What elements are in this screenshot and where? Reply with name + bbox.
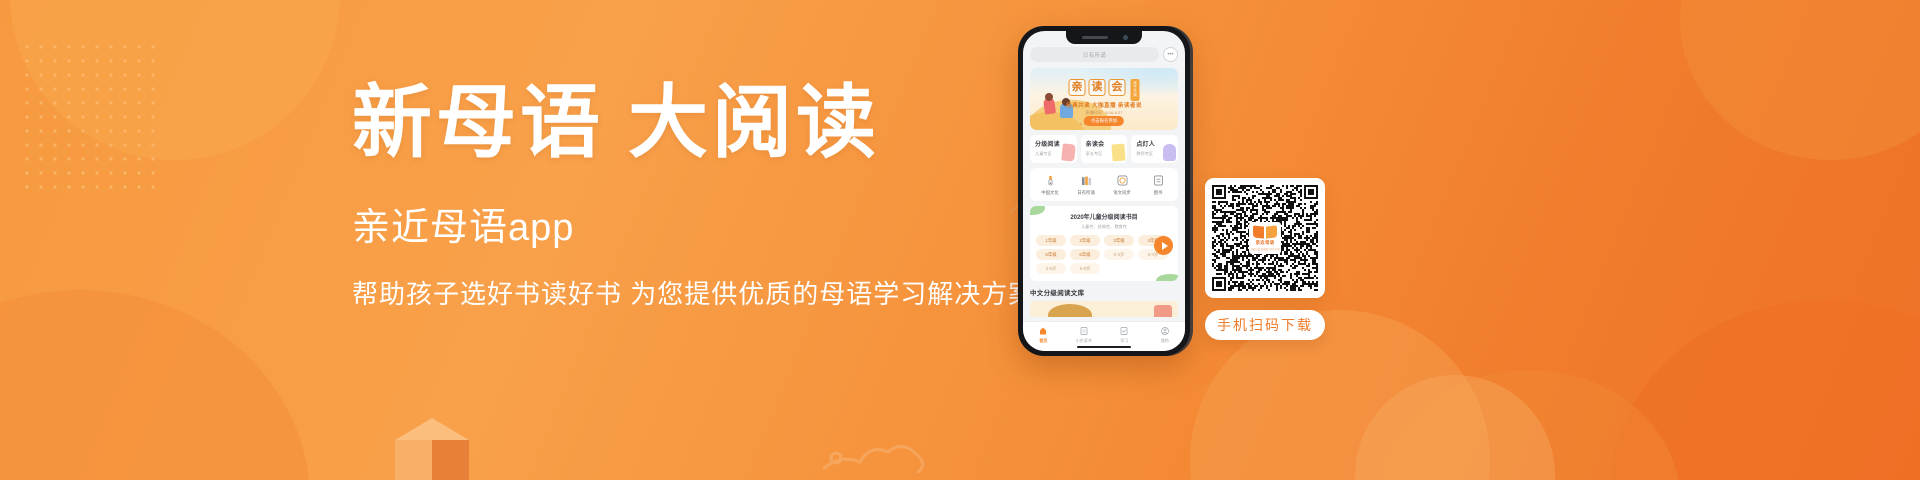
quick-link-label: 日有所诵 — [1077, 190, 1095, 196]
qr-code: 亲近母语 中国儿童 阅读推广的先行者 — [1212, 185, 1318, 291]
people-icon — [1163, 144, 1176, 161]
profile-icon — [1160, 326, 1170, 336]
study-icon — [1119, 326, 1129, 336]
tab-label: 首页 — [1039, 338, 1047, 344]
cloud-swirl-icon — [820, 428, 940, 474]
quick-link-label: 图书 — [1154, 190, 1163, 196]
quick-link-chinese-culture[interactable]: 中国文化 — [1032, 174, 1068, 196]
grade-chip[interactable]: 5年级 — [1036, 249, 1066, 260]
home-icon — [1038, 326, 1048, 336]
search-placeholder: 日有所诵 — [1083, 51, 1106, 59]
decorative-dot-grid — [20, 40, 160, 190]
quick-links-row: 中国文化 日有所诵 — [1030, 168, 1178, 201]
app-search-bar[interactable]: 日有所诵 ••• — [1030, 47, 1178, 62]
category-card-reading-club[interactable]: 亲读会 家长专区 — [1081, 135, 1128, 163]
phone-notch — [1066, 31, 1142, 44]
book-list-icon — [1152, 174, 1165, 187]
hero-char-2: 读 — [1089, 79, 1106, 96]
hero-char-3: 会 — [1109, 79, 1126, 96]
age-chip[interactable]: 4-5岁 — [1036, 263, 1066, 274]
quick-link-daily-recite[interactable]: 日有所诵 — [1068, 174, 1104, 196]
decorative-circle-top-left-2 — [10, 0, 340, 160]
tab-reading[interactable]: 小步读书 — [1064, 326, 1105, 344]
books-icon — [1080, 174, 1093, 187]
tab-home[interactable]: 首页 — [1023, 326, 1064, 344]
hero-char-1: 亲 — [1069, 79, 1086, 96]
decorative-circle-bottom-right — [1610, 300, 1920, 480]
book-icon — [1061, 143, 1076, 161]
phone-mockup: 日有所诵 ••• 亲 读 会 亲子共读 经典共读 大咖直播 亲读者说 — [1018, 26, 1190, 356]
booklist-subtitle: 儿童性、经典性、教育性 — [1036, 224, 1172, 230]
page-title: 新母语 大阅读 — [352, 84, 1052, 164]
qr-download-block: 亲近母语 中国儿童 阅读推广的先行者 手机扫码下载 — [1205, 178, 1325, 340]
quick-link-label: 中国文化 — [1041, 190, 1059, 196]
grade-chip[interactable]: 1年级 — [1036, 235, 1066, 246]
qr-center-logo: 亲近母语 中国儿童 阅读推广的先行者 — [1249, 222, 1281, 254]
note-icon — [1112, 144, 1126, 162]
decorative-circle-top-left — [0, 0, 310, 230]
hero-vertical-tag: 亲子共读 — [1131, 79, 1140, 101]
category-cards: 分级阅读 儿童专区 亲读会 家长专区 点灯人 教师专区 — [1030, 135, 1178, 163]
app-hero-banner[interactable]: 亲 读 会 亲子共读 经典共读 大咖直播 亲读者说 直播时间：9.16-9.27… — [1030, 68, 1178, 130]
brush-icon — [1044, 174, 1057, 187]
category-card-graded-reading[interactable]: 分级阅读 儿童专区 — [1030, 135, 1077, 163]
phone-screen: 日有所诵 ••• 亲 读 会 亲子共读 经典共读 大咖直播 亲读者说 — [1023, 31, 1185, 351]
grade-chip[interactable]: 3年级 — [1104, 235, 1134, 246]
video-play-icon[interactable] — [1154, 236, 1173, 255]
tab-label: 学习 — [1120, 338, 1128, 344]
hero-cta-button[interactable]: 点击报名参加 — [1084, 116, 1124, 126]
quick-link-label: 语文同步 — [1113, 190, 1131, 196]
download-button-label: 手机扫码下载 — [1217, 315, 1313, 335]
age-chip[interactable]: 5-6岁 — [1070, 263, 1100, 274]
quick-link-textbook-sync[interactable]: 语文同步 — [1104, 174, 1140, 196]
hero-subtitle: 经典共读 大咖直播 亲读者说 — [1066, 101, 1142, 109]
more-dots-icon[interactable]: ••• — [1163, 47, 1178, 62]
open-book-icon — [1253, 225, 1277, 239]
age-chip[interactable]: 0-3岁 — [1104, 249, 1134, 260]
quick-link-books[interactable]: 图书 — [1140, 174, 1176, 196]
booklist-section: 2020年儿童分级阅读书目 儿童性、经典性、教育性 1年级 2年级 3年级 4年… — [1030, 206, 1178, 281]
tab-label: 小步读书 — [1076, 338, 1092, 344]
logo-name: 亲近母语 — [1256, 240, 1275, 246]
home-indicator — [1077, 346, 1131, 349]
section-title: 中文分级阅读文库 — [1030, 287, 1178, 297]
tab-label: 我的 — [1161, 338, 1169, 344]
search-input[interactable]: 日有所诵 — [1030, 47, 1159, 62]
decorative-circle-bottom-left — [0, 290, 310, 480]
decorative-cube — [395, 418, 469, 480]
sync-icon — [1116, 174, 1129, 187]
grade-chip-group: 1年级 2年级 3年级 4年级 5年级 6年级 0-3岁 3-4岁 4-5岁 5… — [1036, 235, 1172, 274]
tab-profile[interactable]: 我的 — [1145, 326, 1186, 344]
grade-chip[interactable]: 6年级 — [1070, 249, 1100, 260]
promo-banner: 新母语 大阅读 亲近母语app 帮助孩子选好书读好书 为您提供优质的母语学习解决… — [0, 0, 1920, 480]
decorative-glow-ring-2 — [1355, 375, 1555, 480]
grade-chip[interactable]: 2年级 — [1070, 235, 1100, 246]
tab-study[interactable]: 学习 — [1104, 326, 1145, 344]
logo-subtitle: 中国儿童 阅读推广的先行者 — [1250, 247, 1279, 251]
category-card-lamplighter[interactable]: 点灯人 教师专区 — [1131, 135, 1178, 163]
bookshelf-illustration — [1030, 301, 1178, 317]
reading-icon — [1079, 326, 1089, 336]
app-name: 亲近母语app — [352, 206, 1052, 252]
decorative-circle-bottom-right-2 — [1380, 370, 1680, 480]
banner-copy: 新母语 大阅读 亲近母语app 帮助孩子选好书读好书 为您提供优质的母语学习解决… — [352, 84, 1052, 311]
decorative-circle-top-right — [1680, 0, 1920, 160]
banner-tagline: 帮助孩子选好书读好书 为您提供优质的母语学习解决方案 — [352, 278, 1052, 312]
qr-card: 亲近母语 中国儿童 阅读推广的先行者 — [1205, 178, 1325, 298]
download-button[interactable]: 手机扫码下载 — [1205, 310, 1325, 340]
hero-title: 亲 读 会 亲子共读 — [1069, 79, 1140, 101]
booklist-title: 2020年儿童分级阅读书目 — [1036, 212, 1172, 221]
